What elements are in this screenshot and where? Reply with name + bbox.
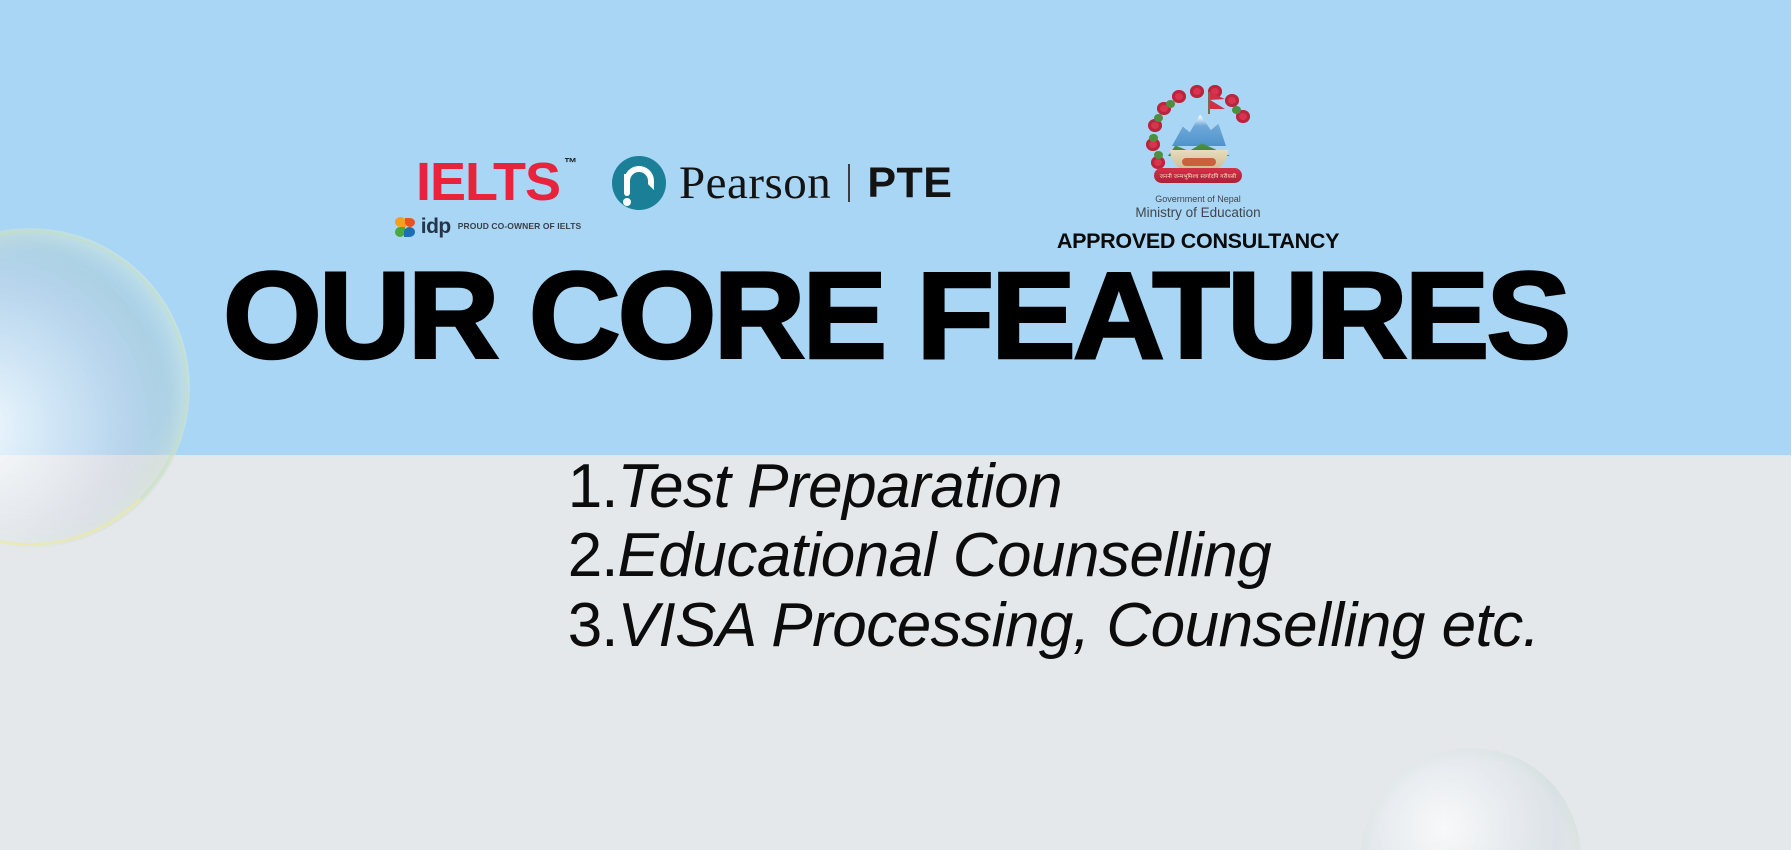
idp-logo-icon (395, 217, 416, 237)
list-item: 2. Educational Counselling (246, 521, 1546, 590)
emblem-ribbon: जननी जन्मभूमिश्च स्वर्गादपि गरीयसी (1154, 168, 1242, 183)
ielts-wordmark: IELTS™ (416, 155, 560, 209)
list-item-number: 3. (546, 591, 618, 660)
pte-wordmark: PTE (867, 162, 952, 205)
list-item-number: 2. (546, 521, 618, 590)
list-item-label: Educational Counselling (618, 521, 1272, 590)
trademark-icon: ™ (564, 156, 577, 169)
nepal-emblem-icon: जननी जन्मभूमिश्च स्वर्गादपि गरीयसी (1146, 88, 1250, 192)
emblem-ribbon-text: जननी जन्मभूमिश्च स्वर्गादपि गरीयसी (1154, 168, 1242, 183)
list-item: 1. Test Preparation (246, 452, 1546, 521)
government-of-nepal-label: Government of Nepal (1028, 195, 1368, 205)
page-title: OUR CORE FEATURES (0, 255, 1791, 378)
pearson-pte-logo: Pearson PTE (612, 156, 952, 210)
idp-partner-lockup: idp PROUD CO-OWNER OF IELTS (388, 216, 588, 237)
logo-divider (848, 164, 850, 202)
list-item-label: Test Preparation (618, 452, 1063, 521)
list-item-label: VISA Processing, Counselling etc. (618, 591, 1540, 660)
ministry-of-education-label: Ministry of Education (1028, 205, 1368, 221)
ielts-logo: IELTS™ idp PROUD CO-OWNER OF IELTS (388, 155, 588, 237)
idp-wordmark: idp (421, 216, 451, 237)
pearson-interrobang-icon (612, 156, 666, 210)
list-item-number: 1. (546, 452, 618, 521)
idp-tagline: PROUD CO-OWNER OF IELTS (458, 222, 582, 231)
core-features-list: 1. Test Preparation 2. Educational Couns… (0, 452, 1791, 660)
pearson-wordmark: Pearson (679, 160, 831, 207)
list-item: 3. VISA Processing, Counselling etc. (246, 591, 1546, 660)
accreditation-logo-strip: IELTS™ idp PROUD CO-OWNER OF IELTS Pears… (0, 88, 1791, 248)
ministry-of-education-logo: जननी जन्मभूमिश्च स्वर्गादपि गरीयसी Gover… (1028, 88, 1368, 253)
slide-canvas: IELTS™ idp PROUD CO-OWNER OF IELTS Pears… (0, 0, 1791, 850)
